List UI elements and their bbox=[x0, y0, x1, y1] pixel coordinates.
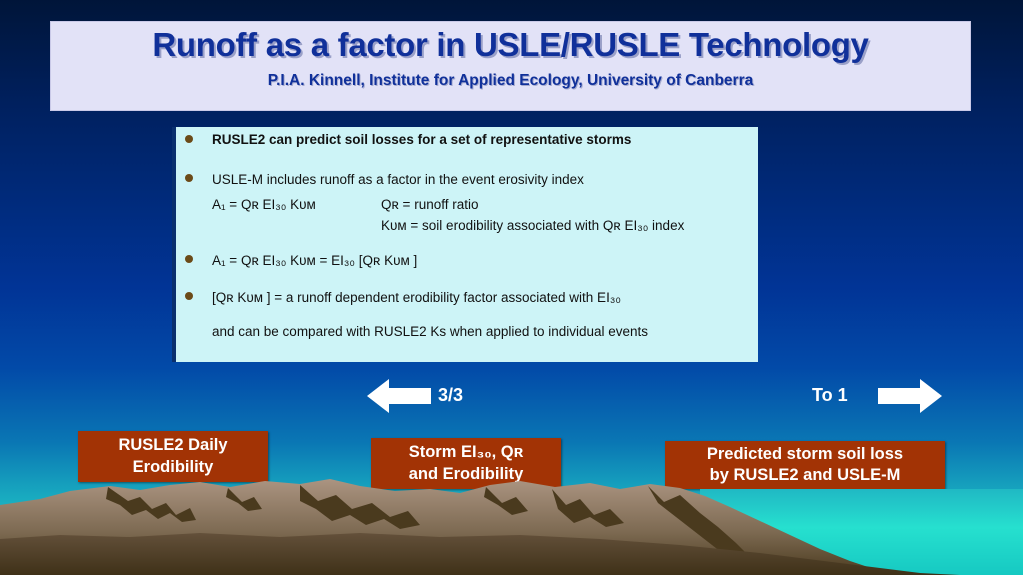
content-line-2: USLE-M includes runoff as a factor in th… bbox=[212, 172, 584, 187]
button-2-line-1: Storm EI₃₀, Qʀ bbox=[409, 442, 524, 463]
page-title: Runoff as a factor in USLE/RUSLE Technol… bbox=[51, 26, 970, 64]
content-line-1: RUSLE2 can predict soil losses for a set… bbox=[212, 132, 631, 147]
bullet-marker-2 bbox=[185, 174, 193, 182]
bullet-marker-1 bbox=[185, 135, 193, 143]
content-definition-kum: Kᴜᴍ = soil erodibility associated with Q… bbox=[381, 218, 684, 233]
button-1-line-1: RUSLE2 Daily bbox=[118, 435, 227, 456]
content-panel: RUSLE2 can predict soil losses for a set… bbox=[172, 127, 758, 362]
content-line-3: A₁ = Qʀ EI₃₀ Kᴜᴍ = EI₃₀ [Qʀ Kᴜᴍ ] bbox=[212, 253, 417, 268]
mountain-landscape-graphic bbox=[0, 475, 1023, 575]
forward-link-label[interactable]: To 1 bbox=[812, 385, 848, 406]
page-subtitle: P.I.A. Kinnell, Institute for Applied Ec… bbox=[51, 72, 970, 90]
bullet-marker-3 bbox=[185, 255, 193, 263]
bullet-marker-4 bbox=[185, 292, 193, 300]
content-line-5: and can be compared with RUSLE2 Ks when … bbox=[212, 324, 648, 339]
arrow-left-icon[interactable] bbox=[367, 379, 431, 418]
button-3-line-1: Predicted storm soil loss bbox=[707, 444, 903, 465]
content-formula-a1: A₁ = Qʀ EI₃₀ Kᴜᴍ bbox=[212, 197, 316, 212]
arrow-right-icon[interactable] bbox=[878, 379, 942, 418]
content-line-4: [Qʀ Kᴜᴍ ] = a runoff dependent erodibili… bbox=[212, 290, 621, 305]
slide-canvas: Runoff as a factor in USLE/RUSLE Technol… bbox=[0, 0, 1023, 575]
content-definition-qr: Qʀ = runoff ratio bbox=[381, 197, 479, 212]
slide-counter: 3/3 bbox=[438, 385, 463, 406]
title-panel: Runoff as a factor in USLE/RUSLE Technol… bbox=[51, 22, 970, 110]
